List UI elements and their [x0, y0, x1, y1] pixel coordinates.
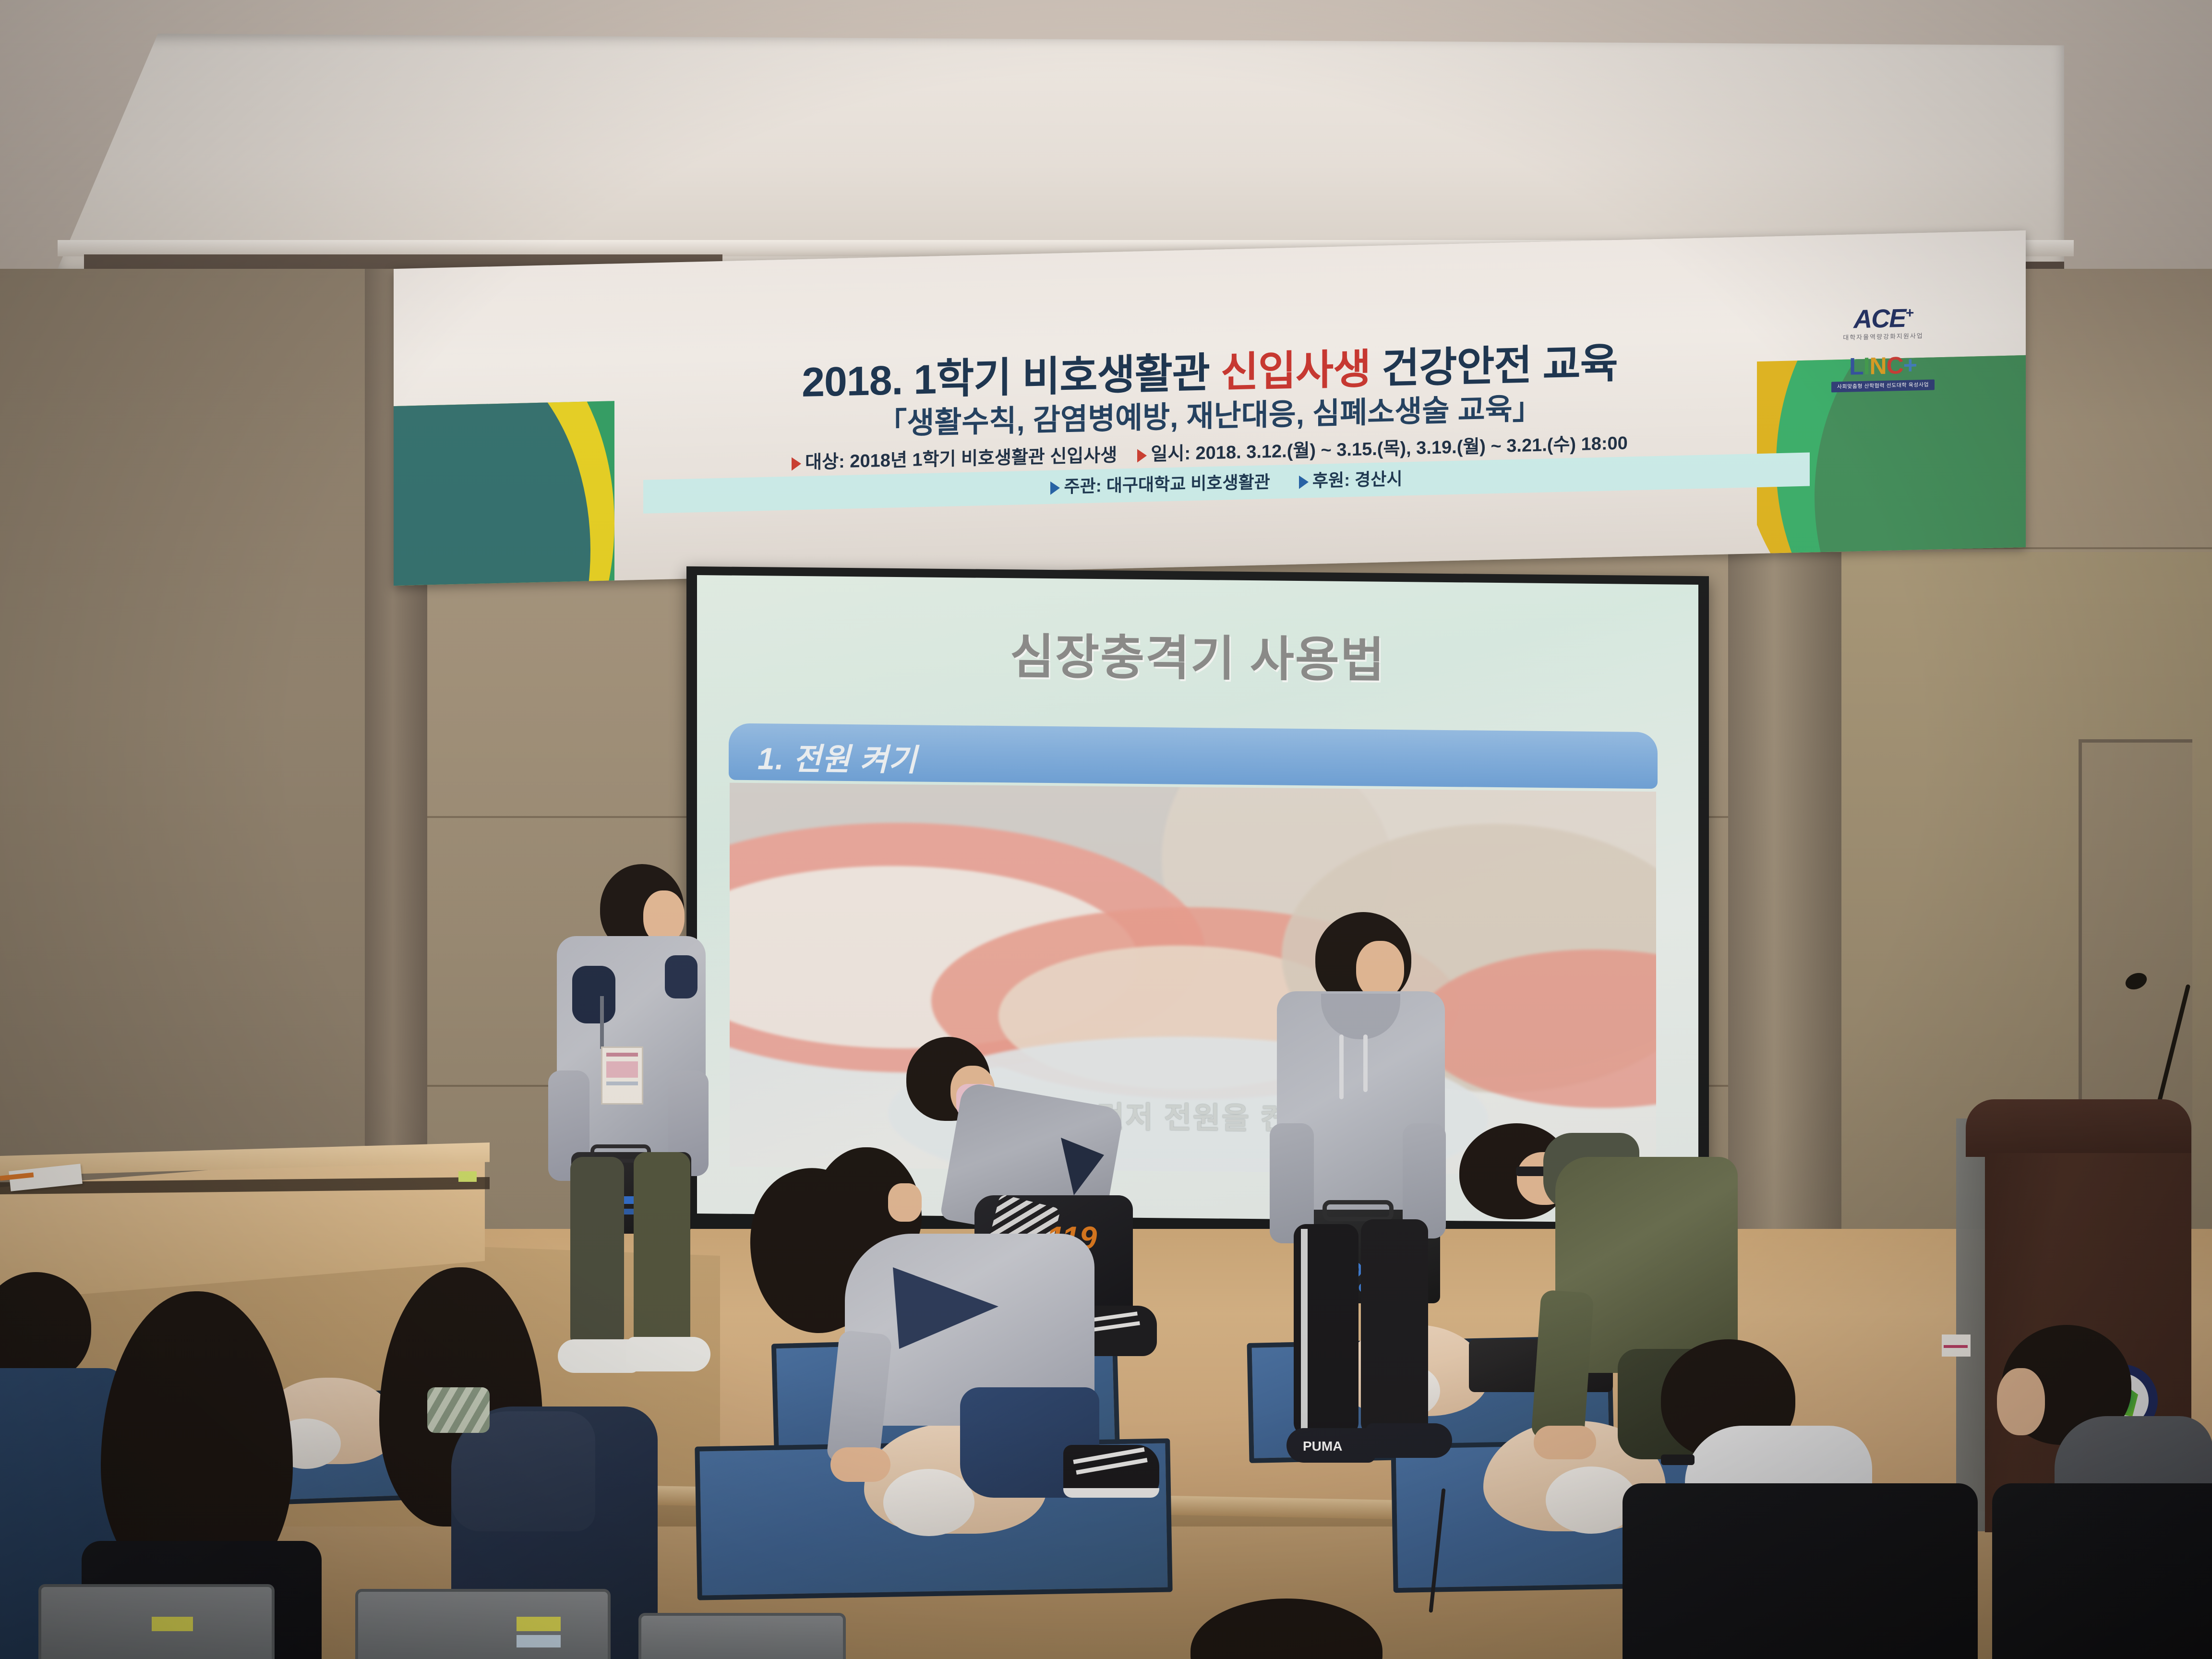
jacket-panel: [572, 966, 615, 1023]
participant-kneeling-center: [749, 1147, 1142, 1531]
face: [1997, 1368, 2045, 1435]
hands-on-chest: [830, 1447, 890, 1482]
shoe: [1063, 1445, 1159, 1498]
podium-top: [1966, 1099, 2191, 1157]
table-asset-label: [458, 1171, 477, 1182]
face: [643, 890, 685, 943]
dark-jacket: [1992, 1483, 2212, 1659]
ace-logo-text: ACE: [1853, 304, 1905, 334]
audience-member: [1190, 1599, 1382, 1659]
banner-sponsor: 후원: 경산시: [1312, 469, 1403, 491]
chair-label-tag: [517, 1635, 561, 1647]
ceiling-soffit-panel: [58, 34, 2064, 269]
name-badge: [601, 1046, 643, 1105]
audience-chair[interactable]: [638, 1613, 846, 1659]
trackpants-stripe: [1301, 1229, 1308, 1431]
face: [1356, 941, 1404, 998]
head: [1190, 1599, 1382, 1659]
bullet-triangle-icon: [1299, 476, 1309, 489]
chair-label-tag: [517, 1617, 561, 1631]
ace-logo-plus: +: [1905, 305, 1913, 321]
ace-plus-logo: ACE+ 대학자율역량강화지원사업: [1833, 302, 1934, 342]
bullet-triangle-icon: [1050, 481, 1060, 495]
banner-host: 주관: 대구대학교 비호생활관: [1064, 472, 1270, 496]
linc-plus-logo: LINC+ 사회맞춤형 산학협력 선도대학 육성사업: [1831, 350, 1935, 392]
arm: [826, 1330, 892, 1467]
event-banner: 2018. 1학기 비호생활관 신입사생 건강안전 교육 「생활수칙, 감염병예…: [394, 230, 2026, 586]
bullet-triangle-icon: [792, 457, 801, 470]
slide-title: 심장충격기 사용법: [697, 614, 1698, 694]
audience-chair[interactable]: [38, 1584, 275, 1659]
lanyard: [600, 996, 604, 1049]
participant-standing-right: AED Trainer PUMA: [1267, 912, 1469, 1503]
bullet-triangle-icon: [1137, 449, 1147, 462]
audience-chair[interactable]: [355, 1589, 611, 1659]
plaid-collar: [427, 1387, 490, 1433]
arm: [1531, 1290, 1594, 1442]
slide-step-bar: 1. 전원 켜기: [729, 723, 1658, 789]
slide-sandal-right: [1366, 1423, 1452, 1458]
dark-jacket: [1623, 1483, 1978, 1659]
hoodie-drawstring: [1363, 1034, 1368, 1092]
audience-member: [1627, 1339, 1992, 1659]
hoodie-drawstring: [1339, 1034, 1344, 1099]
glasses: [1661, 1455, 1695, 1465]
trackpants-right: [1361, 1219, 1428, 1435]
slide-sandal-left: PUMA: [1286, 1428, 1375, 1463]
chair-label-tag: [152, 1617, 193, 1631]
linc-logo-plus: +: [1903, 351, 1917, 379]
slide-step-label: 1. 전원 켜기: [757, 734, 917, 780]
lecture-hall-photo: 2018. 1학기 비호생활관 신입사생 건강안전 교육 「생활수칙, 감염병예…: [0, 0, 2212, 1659]
hands-on-chest: [1534, 1426, 1596, 1459]
banner-target: 대상: 2018년 1학기 비호생활관 신입사생: [805, 445, 1117, 473]
audience-member: [1983, 1325, 2212, 1659]
face: [888, 1183, 922, 1222]
jacket-panel: [665, 955, 697, 998]
